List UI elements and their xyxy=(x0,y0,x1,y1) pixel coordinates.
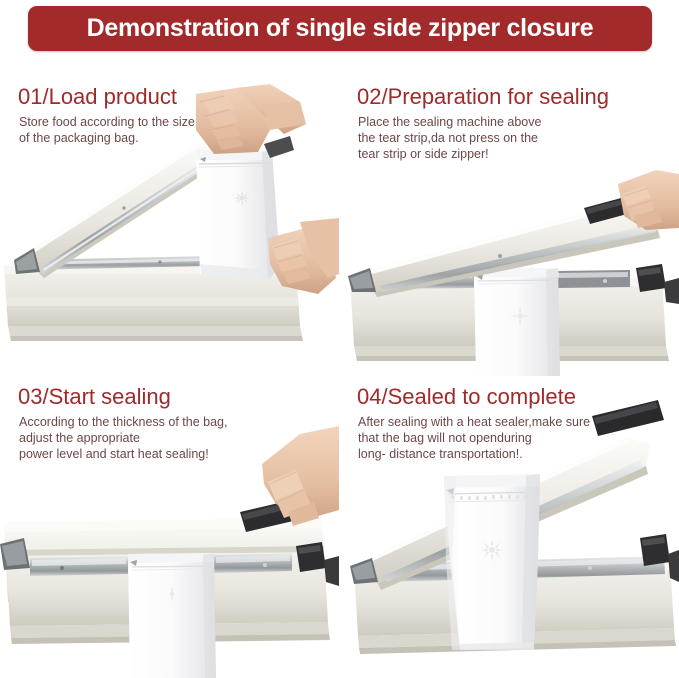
photo-sealer-open-with-hand-inserting-bag xyxy=(0,78,339,378)
photo-sealed-bag-standing-in-front-of-sealer xyxy=(340,378,679,678)
step-card-04: 04/Sealed to complete After sealing with… xyxy=(340,378,679,678)
step-card-02: 02/Preparation for sealing Place the sea… xyxy=(340,78,679,378)
page-title: Demonstration of single side zipper clos… xyxy=(87,14,594,43)
step-card-01: 01/Load product Store food according to … xyxy=(0,78,339,378)
step-card-03: 03/Start sealing According to the thickn… xyxy=(0,378,339,678)
photo-sealer-closed-pressing-bag xyxy=(0,378,339,678)
photo-sealer-arm-lowering-over-bag xyxy=(340,78,679,378)
title-banner: Demonstration of single side zipper clos… xyxy=(28,6,652,51)
